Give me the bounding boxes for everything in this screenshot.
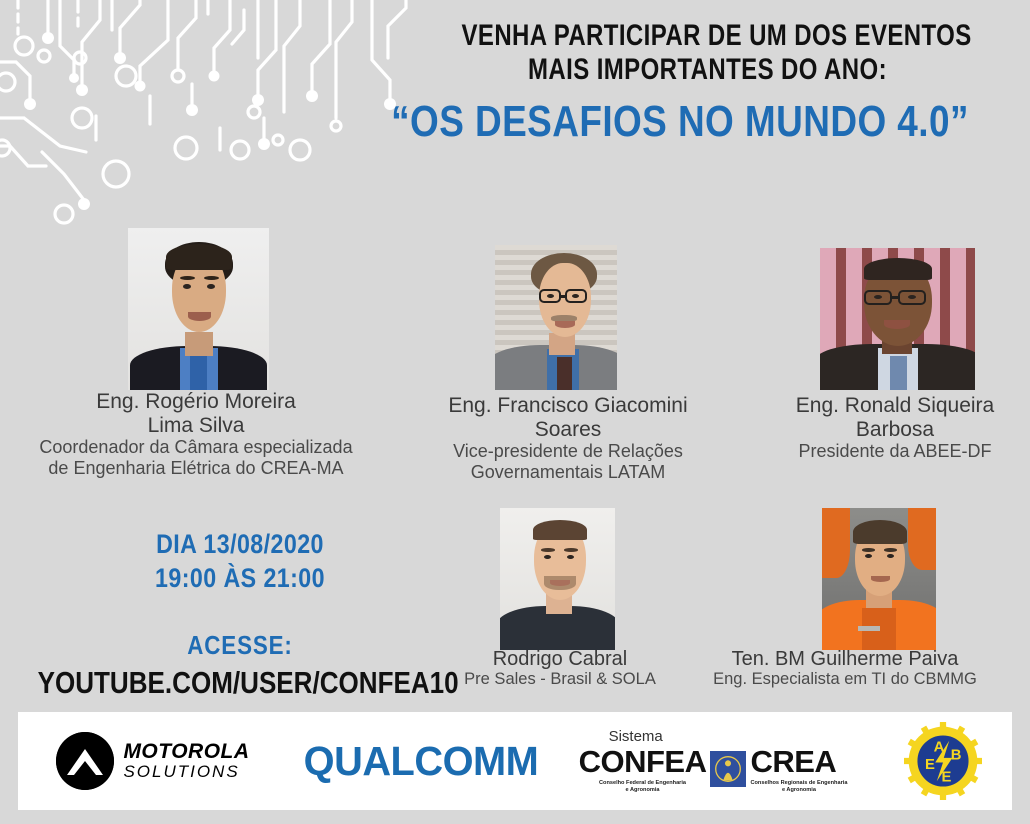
event-poster: VENHA PARTICIPAR DE UM DOS EVENTOS MAIS …: [0, 0, 1030, 824]
circuit-pattern-decoration: [0, 0, 420, 230]
speaker-caption-guilherme: Ten. BM Guilherme Paiva Eng. Especialist…: [660, 648, 1030, 689]
speaker-name-cont: Barbosa: [760, 418, 1030, 442]
sponsor-abee: A B E E: [873, 712, 1012, 810]
confea-subtitle-line1: Conselho Federal de Engenharia: [579, 780, 707, 787]
youtube-url[interactable]: YOUTUBE.COM/USER/CONFEA10: [38, 665, 433, 701]
speaker-photo-ronald: [820, 248, 975, 390]
speaker-role: Pre Sales - Brasil & SOLA: [460, 670, 660, 689]
headline-line-2: MAIS IMPORTANTES DO ANO:: [462, 54, 954, 86]
sponsor-footer: MOTOROLA SOLUTIONS QUALCOMM Sistema CONF…: [18, 712, 1012, 810]
speaker-name: Eng. Francisco Giacomini: [400, 394, 736, 418]
speaker-role: Coordenador da Câmara especializada: [0, 437, 392, 458]
speaker-caption-rogerio: Eng. Rogério Moreira Lima Silva Coordena…: [0, 390, 392, 478]
confea-sistema-label: Sistema: [609, 728, 848, 745]
speaker-role: Eng. Especialista em TI do CBMMG: [660, 670, 1030, 689]
sponsor-confea-crea: Sistema CONFEA Conselho Federal de Engen…: [553, 712, 873, 810]
speaker-name: Eng. Ronald Siqueira: [760, 394, 1030, 418]
confea-wordmark: CONFEA: [579, 744, 707, 780]
speaker-role-cont: de Engenharia Elétrica do CREA-MA: [0, 458, 392, 479]
speaker-name: Eng. Rogério Moreira: [0, 390, 392, 414]
headline-block: VENHA PARTICIPAR DE UM DOS EVENTOS MAIS …: [400, 20, 1015, 86]
speaker-caption-rodrigo: Rodrigo Cabral Pre Sales - Brasil & SOLA: [460, 648, 660, 689]
headline-line-1: VENHA PARTICIPAR DE UM DOS EVENTOS: [462, 20, 954, 52]
svg-text:B: B: [950, 747, 961, 763]
speaker-photo-guilherme: [822, 508, 936, 650]
sponsor-motorola-solutions: MOTOROLA SOLUTIONS: [18, 712, 288, 810]
event-date: DIA 13/08/2020: [51, 528, 429, 562]
crea-subtitle-line2: e Agronomia: [750, 787, 847, 794]
speaker-role-cont: Governamentais LATAM: [400, 462, 736, 483]
speaker-role: Presidente da ABEE-DF: [760, 441, 1030, 462]
motorola-bat-wing-icon: [56, 732, 114, 790]
event-datetime: DIA 13/08/2020 19:00 ÀS 21:00: [51, 528, 429, 596]
speaker-photo-rogerio: [128, 228, 269, 390]
speaker-name: Rodrigo Cabral: [460, 648, 660, 670]
speaker-photo-francisco: [495, 245, 617, 390]
confea-crest-icon: [710, 751, 746, 787]
abee-gear-icon: A B E E: [904, 722, 982, 800]
event-time: 19:00 ÀS 21:00: [51, 562, 429, 596]
svg-text:E: E: [925, 757, 935, 773]
motorola-subtitle: SOLUTIONS: [123, 763, 249, 781]
speaker-photo-rodrigo: [500, 508, 615, 650]
speaker-role: Vice-presidente de Relações: [400, 441, 736, 462]
confea-subtitle-line2: e Agronomia: [579, 787, 707, 794]
speaker-caption-ronald: Eng. Ronald Siqueira Barbosa Presidente …: [760, 394, 1030, 462]
speaker-name: Ten. BM Guilherme Paiva: [660, 648, 1030, 670]
qualcomm-wordmark: QUALCOMM: [303, 738, 538, 785]
crea-subtitle-line1: Conselhos Regionais de Engenharia: [750, 780, 847, 787]
crea-wordmark: CREA: [750, 744, 847, 780]
event-title: “OS DESAFIOS NO MUNDO 4.0”: [386, 100, 974, 144]
access-label: ACESSE:: [51, 630, 429, 661]
sponsor-qualcomm: QUALCOMM: [288, 712, 553, 810]
speaker-name-cont: Soares: [400, 418, 736, 442]
motorola-wordmark: MOTOROLA: [123, 741, 249, 763]
speaker-name-cont: Lima Silva: [0, 414, 392, 438]
speaker-caption-francisco: Eng. Francisco Giacomini Soares Vice-pre…: [400, 394, 736, 482]
